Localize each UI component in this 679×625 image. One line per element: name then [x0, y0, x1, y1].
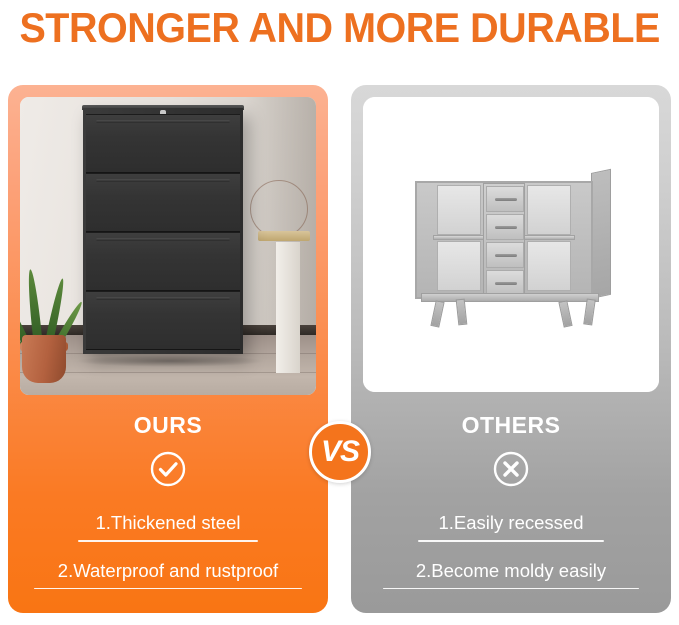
bullet-underline — [78, 540, 258, 542]
bullet-text: 2.Become moldy easily — [375, 558, 647, 588]
drawer-handle — [96, 179, 230, 182]
page-title: STRONGER AND MORE DURABLE — [0, 0, 679, 56]
ours-panel: OURS 1.Thickened steel 2.Waterproof and … — [8, 85, 328, 613]
sideboard-leg — [456, 299, 468, 326]
sideboard-open-bay — [437, 241, 481, 291]
sideboard-shelf — [433, 235, 485, 240]
sideboard-open-bay — [527, 185, 571, 235]
drawer-handle — [96, 297, 230, 300]
wooden-sideboard — [415, 181, 611, 311]
side-table-top — [258, 231, 310, 241]
others-panel: OTHERS 1.Easily recessed 2.Become moldy … — [351, 85, 671, 613]
others-caption: OTHERS — [351, 412, 671, 439]
sideboard-drawer-stack — [483, 183, 525, 297]
side-table-leg — [276, 242, 300, 373]
bullet-underline — [418, 540, 604, 542]
cabinet-drawer — [86, 173, 240, 232]
cabinet-drawer — [86, 232, 240, 291]
sideboard-base — [421, 293, 599, 302]
vs-badge: VS — [309, 421, 371, 483]
sideboard-drawer — [486, 214, 524, 240]
others-bullet-list: 1.Easily recessed 2.Become moldy easily — [351, 510, 671, 589]
drawer-handle — [495, 198, 517, 201]
sideboard-right-side-panel — [591, 169, 611, 299]
x-circle-icon — [492, 450, 530, 488]
cabinet-drawer — [86, 114, 240, 173]
check-circle-icon — [149, 450, 187, 488]
sideboard-open-bay — [527, 241, 571, 291]
cabinet-drawer — [86, 291, 240, 350]
bullet-underline — [383, 588, 639, 590]
bullet-underline — [34, 588, 302, 590]
drawer-handle — [495, 226, 517, 229]
plant-pot — [22, 335, 66, 383]
page-title-text: STRONGER AND MORE DURABLE — [19, 7, 659, 49]
file-cabinet — [83, 108, 243, 354]
comparison-infographic: STRONGER AND MORE DURABLE — [0, 0, 679, 625]
list-item: 1.Easily recessed — [375, 510, 647, 542]
ours-caption: OURS — [8, 412, 328, 439]
drawer-handle — [96, 238, 230, 241]
list-item: 2.Waterproof and rustproof — [32, 558, 304, 590]
sideboard-shelf — [523, 235, 575, 240]
sideboard-open-bay — [437, 185, 481, 235]
bullet-text: 1.Easily recessed — [375, 510, 647, 540]
sideboard-drawer — [486, 242, 524, 268]
ours-product-photo — [20, 97, 316, 395]
bullet-text: 1.Thickened steel — [32, 510, 304, 540]
room-scene — [20, 97, 316, 395]
list-item: 2.Become moldy easily — [375, 558, 647, 590]
sideboard-drawer — [486, 186, 524, 212]
ours-bullet-list: 1.Thickened steel 2.Waterproof and rustp… — [8, 510, 328, 589]
list-item: 1.Thickened steel — [32, 510, 304, 542]
drawer-handle — [495, 282, 517, 285]
bullet-text: 2.Waterproof and rustproof — [32, 558, 304, 588]
panel-divider — [336, 85, 343, 613]
vs-badge-label: VS — [321, 437, 359, 467]
drawer-handle — [495, 254, 517, 257]
drawer-handle — [96, 120, 230, 123]
others-product-photo — [363, 97, 659, 392]
cabinet-shadow — [75, 355, 265, 367]
